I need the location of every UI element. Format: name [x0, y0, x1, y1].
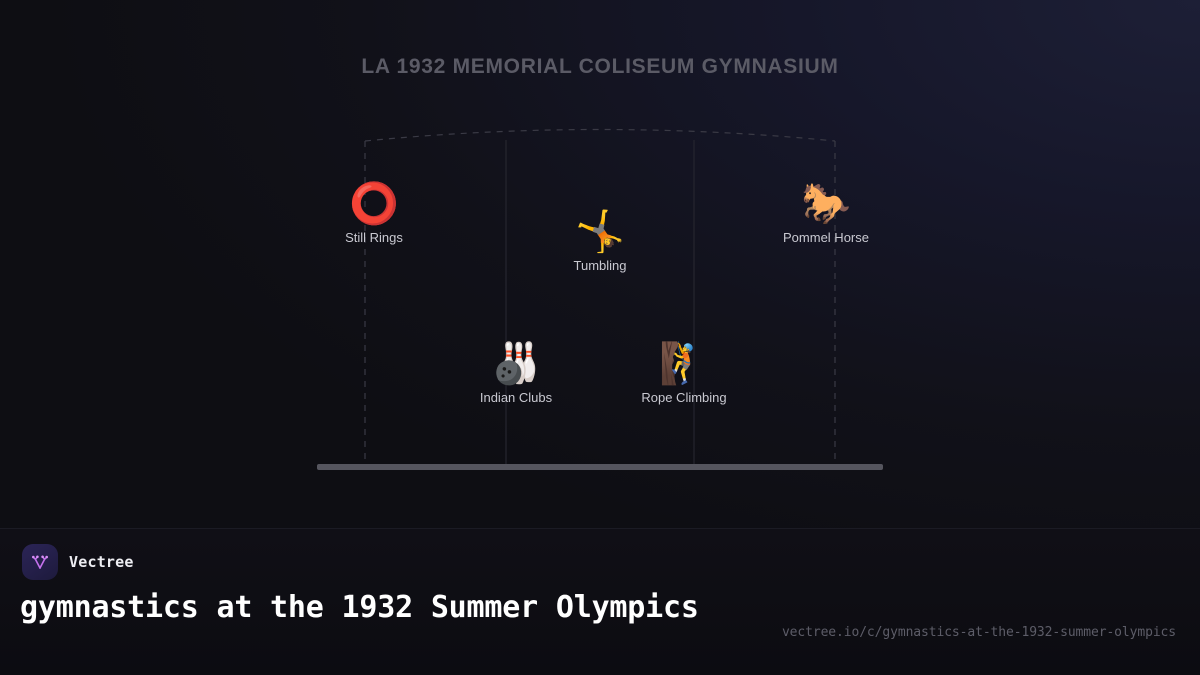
apparatus-tumbling[interactable]: 🤸 Tumbling	[520, 208, 680, 274]
screenshot-stage: LA 1932 MEMORIAL COLISEUM GYMNASIUM ⭕ St…	[0, 0, 1200, 675]
brand[interactable]: Vectree	[22, 544, 134, 580]
arched-roof-line	[365, 130, 835, 142]
apparatus-pommel-horse[interactable]: 🐎 Pommel Horse	[746, 180, 906, 246]
apparatus-label: Tumbling	[520, 258, 680, 274]
ring-icon: ⭕	[294, 180, 454, 228]
page-url: vectree.io/c/gymnastics-at-the-1932-summ…	[782, 625, 1176, 640]
apparatus-indian-clubs[interactable]: 🎳 Indian Clubs	[436, 340, 596, 406]
cartwheel-person-icon: 🤸	[520, 208, 680, 256]
caption-bar: Vectree gymnastics at the 1932 Summer Ol…	[0, 528, 1200, 675]
page-title: gymnastics at the 1932 Summer Olympics	[20, 591, 720, 624]
scene-title: LA 1932 MEMORIAL COLISEUM GYMNASIUM	[0, 55, 1200, 79]
apparatus-label: Pommel Horse	[746, 230, 906, 246]
climbing-person-icon: 🧗	[604, 340, 764, 388]
apparatus-label: Rope Climbing	[604, 390, 764, 406]
horse-icon: 🐎	[746, 180, 906, 228]
apparatus-label: Still Rings	[294, 230, 454, 246]
apparatus-still-rings[interactable]: ⭕ Still Rings	[294, 180, 454, 246]
apparatus-label: Indian Clubs	[436, 390, 596, 406]
gym-floor-bar	[317, 464, 883, 470]
brand-name: Vectree	[69, 553, 134, 571]
bowling-icon: 🎳	[436, 340, 596, 388]
apparatus-rope-climbing[interactable]: 🧗 Rope Climbing	[604, 340, 764, 406]
vectree-tree-logo-icon	[22, 544, 58, 580]
gym-scene: LA 1932 MEMORIAL COLISEUM GYMNASIUM ⭕ St…	[0, 0, 1200, 528]
